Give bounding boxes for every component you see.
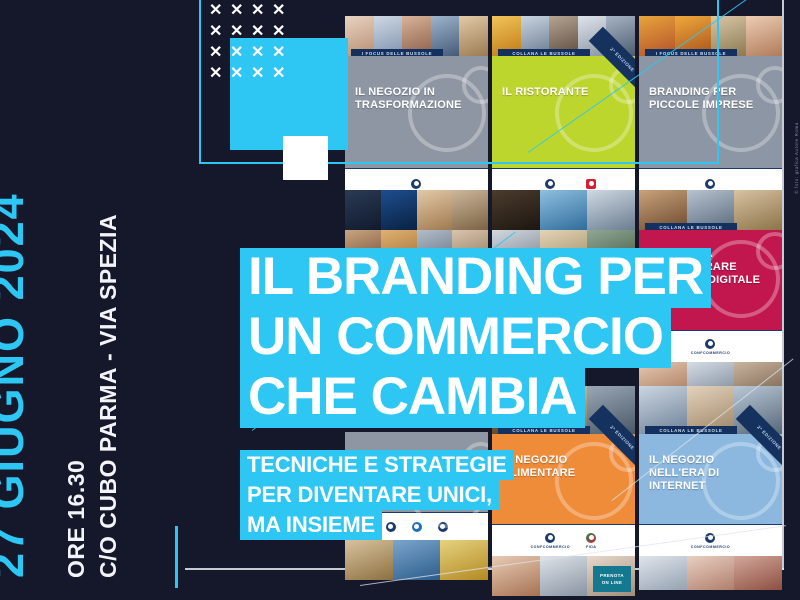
prenota-line-1: PRENOTA [600,572,624,579]
x-mark-icon: ✕ [230,4,243,17]
confcommercio-mark-icon [545,179,555,189]
x-mark-icon: ✕ [272,46,285,59]
prenota-online-badge: PRENOTA ON LINE [593,566,631,592]
decorative-white-square [283,136,328,180]
x-mark-icon: ✕ [272,4,285,17]
x-mark-icon: ✕ [251,46,264,59]
confcommercio-mark-icon [705,179,715,189]
x-mark-icon: ✕ [251,67,264,80]
event-venue: C/O CUBO PARMA - VIA SPEZIA [95,214,122,578]
logo-name: CONFCOMMERCIO [691,545,730,549]
book-photo-strip [492,190,635,230]
x-mark-icon: ✕ [209,25,222,38]
x-mark-icon: ✕ [209,46,222,59]
x-mark-icon: ✕ [209,4,222,17]
poster-subtitle: TECNICHE E STRATEGIE PER DIVENTARE UNICI… [240,450,514,540]
book-photo-strip-bottom: PRENOTA ON LINE [492,556,635,596]
book-photo-strip-bottom [639,556,782,590]
x-mark-icon: ✕ [272,25,285,38]
x-mark-icon: ✕ [251,25,264,38]
headline-line-1: IL BRANDING PER [240,248,711,308]
confcommercio-mark-icon [545,533,555,543]
x-mark-icon: ✕ [251,4,264,17]
event-poster: I FOCUS DELLE BUSSOLE IL NEGOZIO IN TRAS… [0,0,800,600]
prenota-line-2: ON LINE [602,579,623,586]
fipe-mark-icon [586,179,596,189]
event-date: 27 GIUGNO 2024 [0,192,34,578]
fida-logo: FIDA [586,533,596,549]
subtitle-line-2: PER DIVENTARE UNICI, [240,480,499,510]
confcommercio-mark-icon [411,179,421,189]
confcommercio-logo: CONFCOMMERCIO [531,533,570,549]
x-mark-icon: ✕ [230,25,243,38]
headline-line-3: CHE CAMBIA [240,368,585,428]
subtitle-line-1: TECNICHE E STRATEGIE [240,450,514,480]
photo-credit: © foto: grafica Autore Roma [794,122,799,194]
accent-rule [175,526,178,588]
logo-name: FIDA [586,545,596,549]
book-title: IL NEGOZIO NELL'ERA DI INTERNET [649,454,767,493]
book-title: IL NEGOZIO ALIMENTARE [502,454,620,480]
decorative-x-grid: ✕✕✕✕✕✕✕✕✕✕✕✕✕✕✕✕ [209,4,309,88]
event-info-column: 27 GIUGNO 2024 ORE 16.30 C/O CUBO PARMA … [0,0,185,600]
subtitle-line-3: MA INSIEME [240,510,382,540]
book-photo-strip [345,540,488,580]
book-photo-strip [345,190,488,230]
book-cover: 2ª EDIZIONE IL NEGOZIO NELL'ERA DI INTER… [639,434,782,524]
headline-line-2: UN COMMERCIO [240,308,671,368]
x-mark-icon: ✕ [272,67,285,80]
fida-mark-icon [586,533,596,543]
confcommercio-mark-icon [705,533,715,543]
x-mark-icon: ✕ [230,46,243,59]
logo-name: CONFCOMMERCIO [531,545,570,549]
event-time: ORE 16.30 [63,460,90,578]
x-mark-icon: ✕ [230,67,243,80]
poster-headline: IL BRANDING PER UN COMMERCIO CHE CAMBIA [240,248,711,428]
x-mark-icon: ✕ [209,67,222,80]
